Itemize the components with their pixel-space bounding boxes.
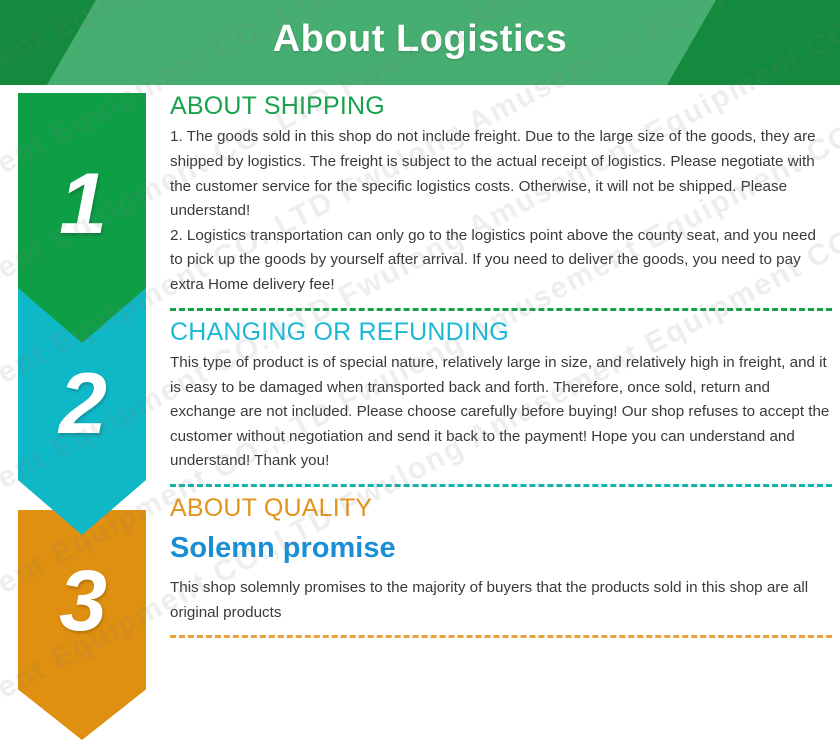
section-about-shipping: ABOUT SHIPPING 1. The goods sold in this… <box>170 85 832 298</box>
section-about-quality: ABOUT QUALITY Solemn promise This shop s… <box>170 484 832 638</box>
page-title: About Logistics <box>0 0 840 85</box>
divider-above-refunding <box>170 308 832 311</box>
section-heading-about-shipping: ABOUT SHIPPING <box>170 91 832 122</box>
divider-bottom-closing <box>170 635 832 638</box>
step-badge-3-number: 3 <box>59 558 105 644</box>
section-heading-about-quality: ABOUT QUALITY <box>170 493 832 524</box>
divider-above-quality <box>170 484 832 487</box>
step-badge-3: 3 <box>18 510 146 740</box>
step-badge-2-number: 2 <box>59 361 105 447</box>
step-badge-rail: 1 2 3 <box>18 85 146 725</box>
section-paragraph-shipping-1: 1. The goods sold in this shop do not in… <box>170 125 832 224</box>
section-paragraph-refunding-1: This type of product is of special natur… <box>170 351 832 474</box>
section-paragraph-shipping-2: 2. Logistics transportation can only go … <box>170 224 832 298</box>
page-header: About Logistics <box>0 0 840 85</box>
section-subheading-solemn-promise: Solemn promise <box>170 530 832 568</box>
content-area: 1 2 3 ABOUT SHIPPING 1. The goods sold i… <box>0 85 840 739</box>
sections-column: ABOUT SHIPPING 1. The goods sold in this… <box>170 85 832 644</box>
step-badge-1-number: 1 <box>59 161 105 247</box>
section-changing-refunding: CHANGING OR REFUNDING This type of produ… <box>170 308 832 474</box>
section-paragraph-quality-1: This shop solemnly promises to the major… <box>170 576 832 625</box>
section-heading-changing-refunding: CHANGING OR REFUNDING <box>170 317 832 348</box>
